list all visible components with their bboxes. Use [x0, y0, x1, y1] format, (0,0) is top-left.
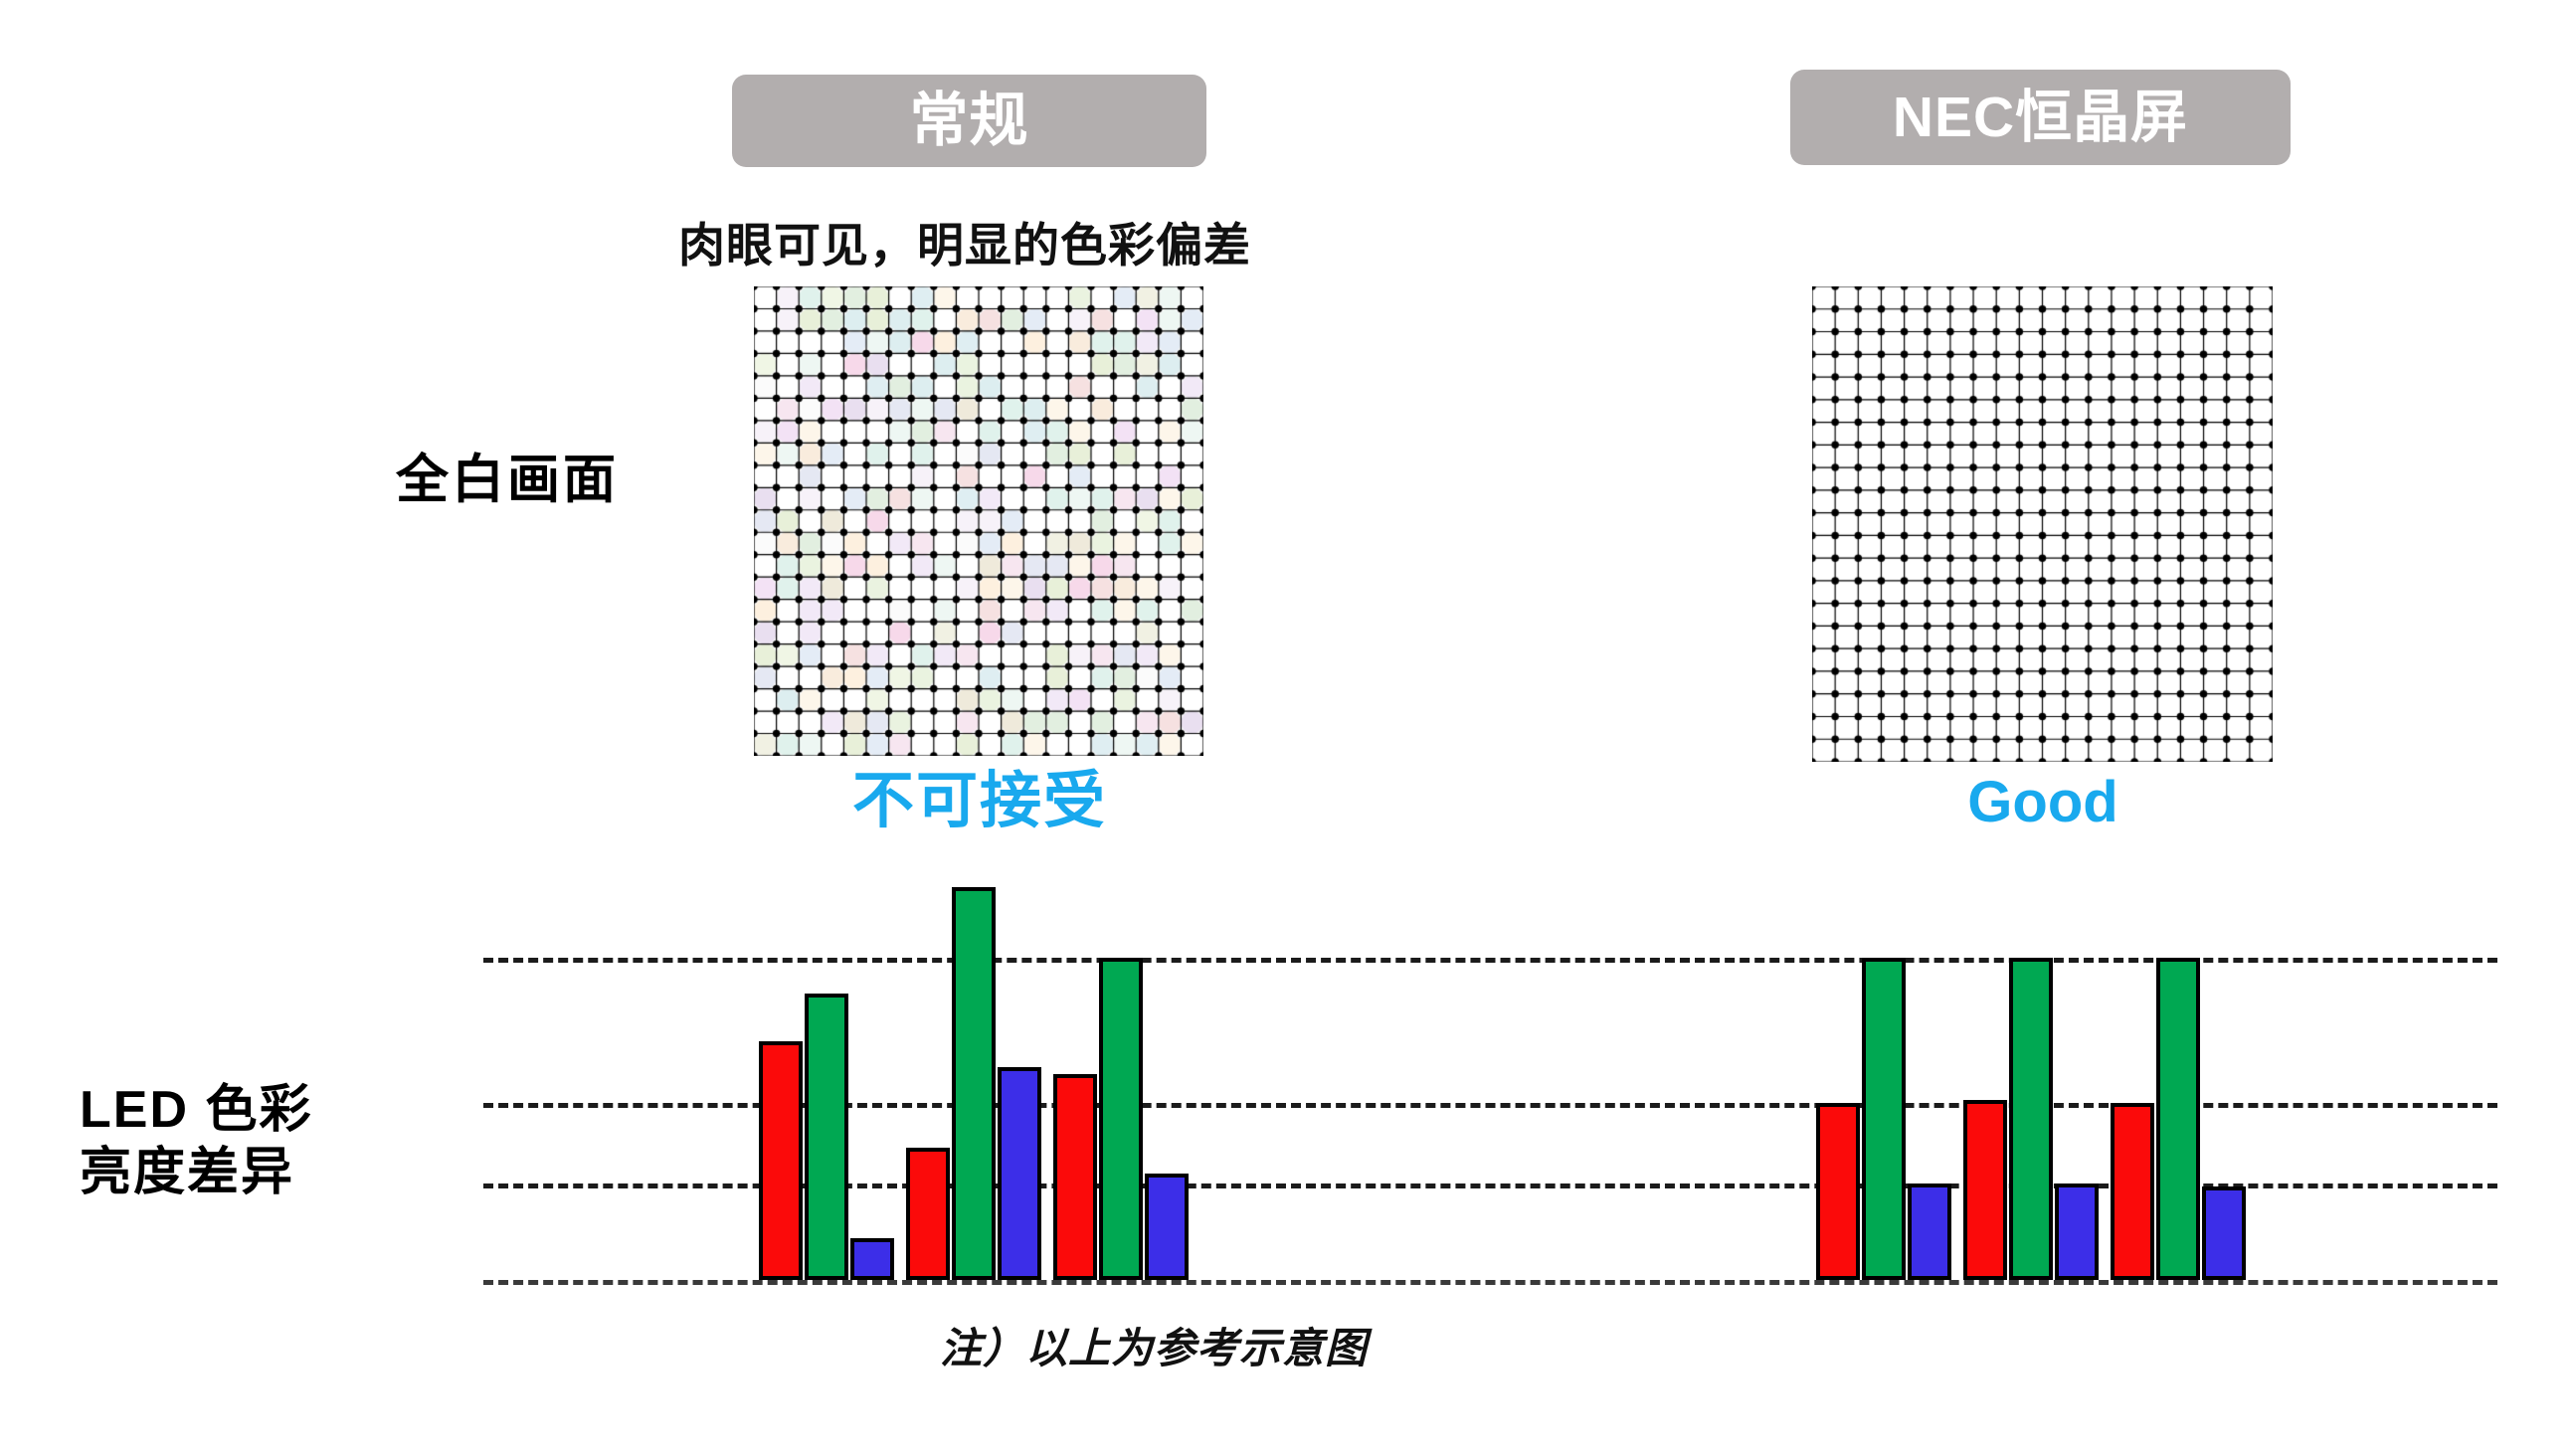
- led-brightness-chart: [0, 875, 2575, 1293]
- bar-conventional-3-g: [1099, 958, 1143, 1280]
- bar-nec-1-b: [1908, 1183, 1951, 1280]
- led-dot-grid-conventional-canvas: [754, 286, 1203, 756]
- bar-nec-1-g: [1862, 958, 1906, 1280]
- bar-conventional-1-b: [850, 1238, 894, 1280]
- footnote-reference-diagram: 注）以上为参考示意图: [0, 1315, 2307, 1375]
- bar-nec-2-b: [2055, 1183, 2099, 1280]
- bar-nec-3-r: [2111, 1103, 2154, 1280]
- bar-conventional-1-g: [805, 994, 848, 1280]
- header-pill-conventional: 常规: [732, 75, 1206, 167]
- led-dot-grid-nec-canvas: [1812, 286, 2273, 762]
- bar-conventional-3-r: [1053, 1074, 1097, 1280]
- bar-conventional-2-r: [906, 1148, 950, 1280]
- header-pill-nec: NEC恒晶屏: [1790, 70, 2291, 165]
- chart-baseline: [483, 1280, 2497, 1285]
- bar-conventional-2-g: [952, 887, 996, 1280]
- led-panel-conventional: [754, 286, 1203, 756]
- bar-conventional-1-r: [759, 1041, 803, 1280]
- row-label-full-white-screen: 全白画面: [298, 438, 716, 513]
- verdict-conventional: 不可接受: [756, 771, 1203, 832]
- bar-nec-3-g: [2156, 958, 2200, 1280]
- bar-nec-3-b: [2202, 1186, 2246, 1280]
- bar-conventional-3-b: [1145, 1174, 1189, 1280]
- bar-nec-2-r: [1963, 1100, 2007, 1280]
- bar-nec-1-r: [1816, 1103, 1860, 1280]
- verdict-nec: Good: [1814, 774, 2272, 831]
- bar-nec-2-g: [2009, 958, 2053, 1280]
- led-panel-nec: [1812, 286, 2273, 762]
- bar-conventional-2-b: [998, 1067, 1041, 1280]
- subtitle-color-deviation: 肉眼可见，明显的色彩偏差: [0, 207, 1930, 275]
- chart-plot-area: [483, 875, 2497, 1293]
